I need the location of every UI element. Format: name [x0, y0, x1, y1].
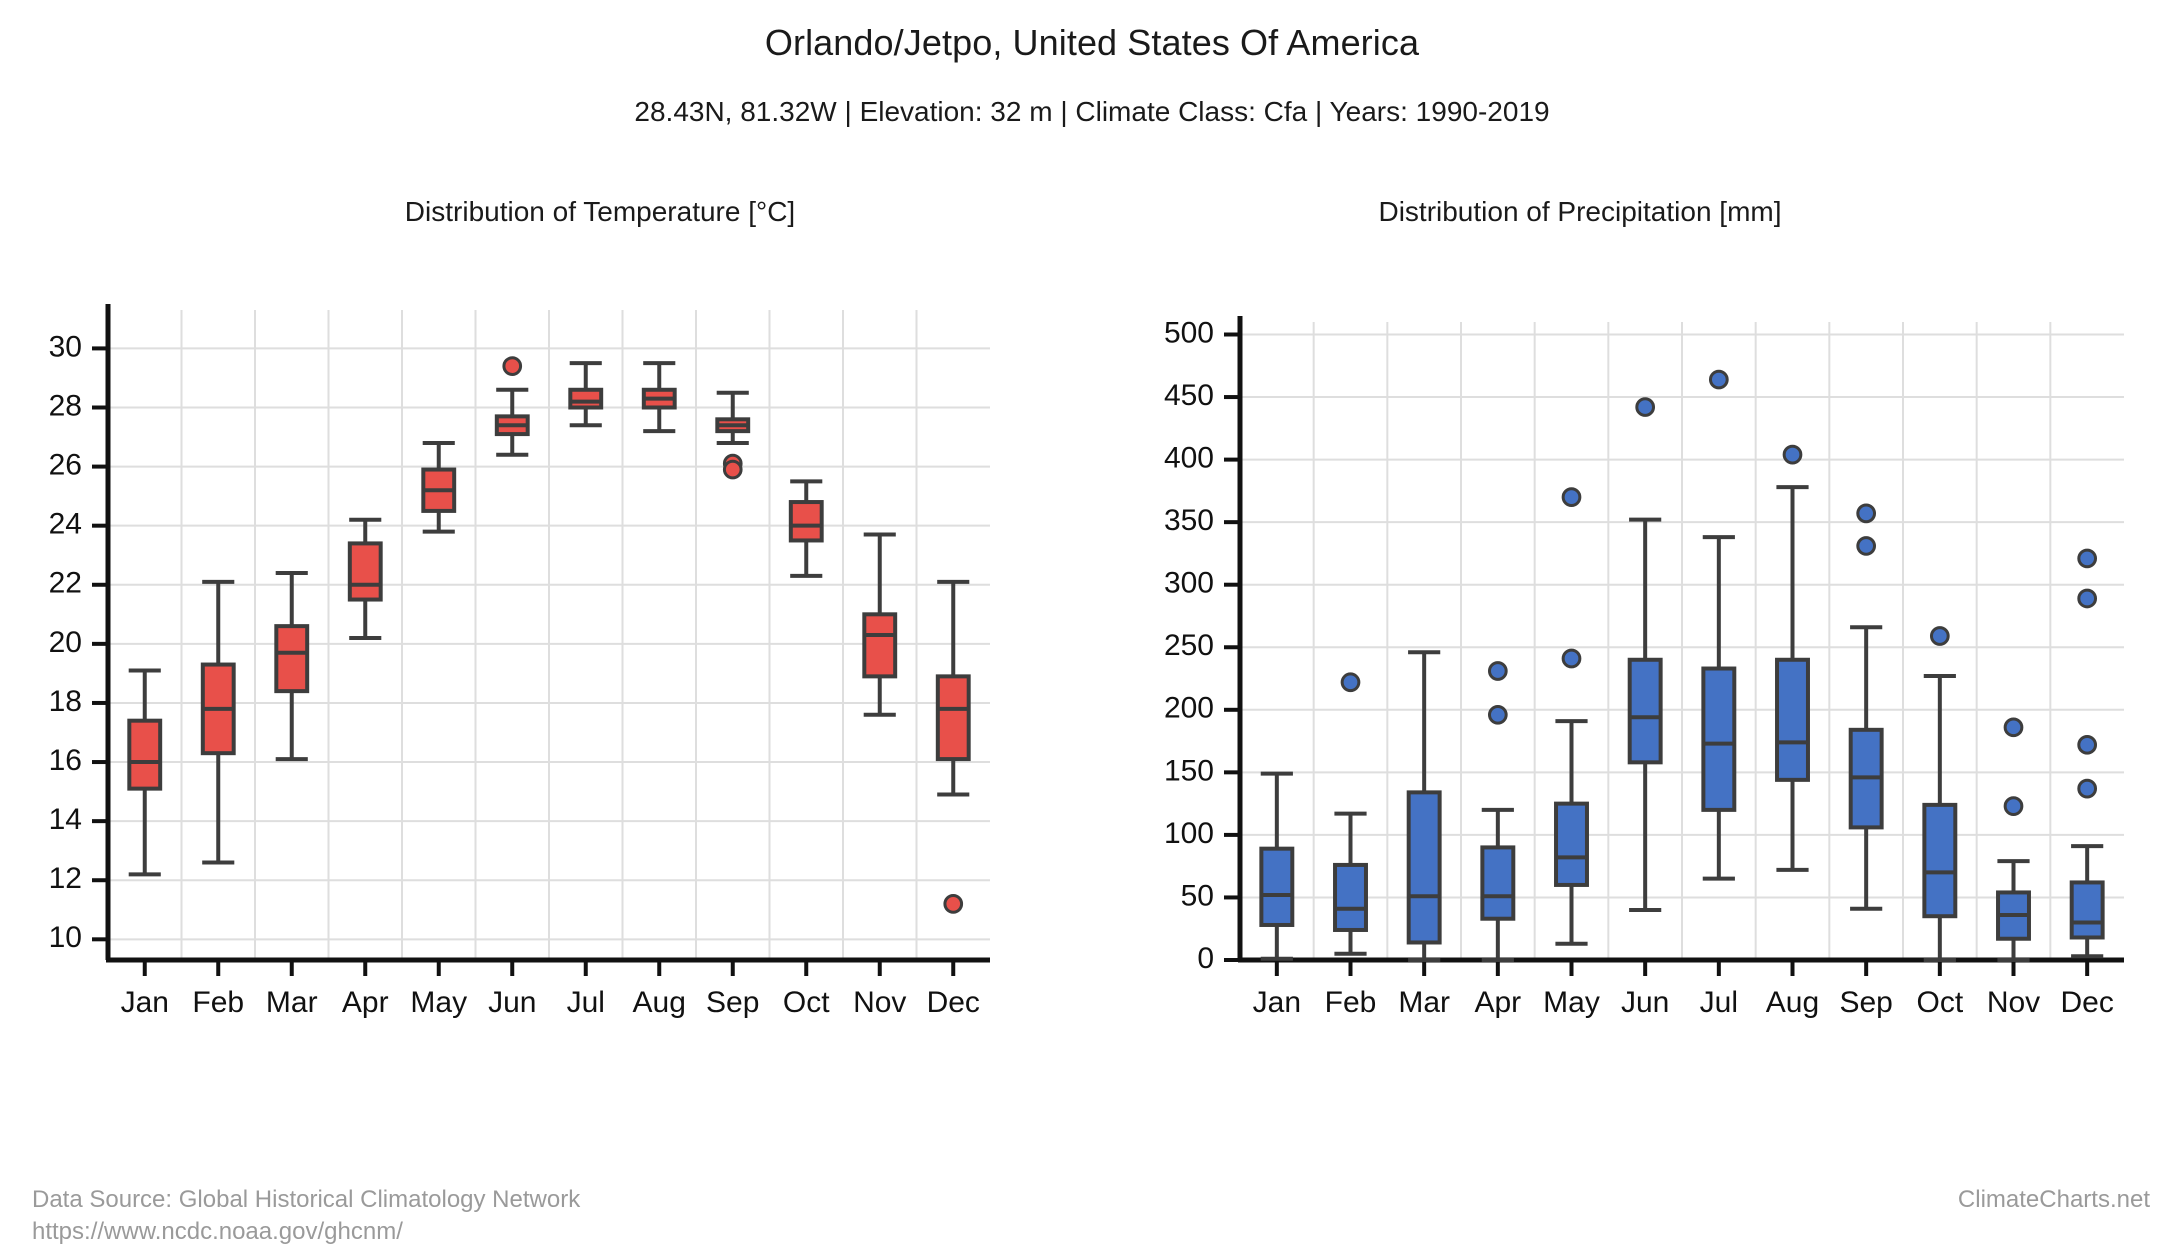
temperature-panel-title: Distribution of Temperature [°C] — [110, 196, 1090, 228]
precipitation-box-apr — [1482, 663, 1514, 960]
precipitation-box-may — [1555, 489, 1587, 944]
x-tick-label-sep: Sep — [706, 986, 759, 1019]
x-tick-label-jun: Jun — [488, 986, 536, 1019]
precipitation-y-tick-label: 350 — [1164, 504, 1214, 537]
x-tick-label-jan: Jan — [1253, 986, 1301, 1019]
precipitation-box-mar — [1408, 652, 1440, 960]
precipitation-y-axis-ticks: 050100150200250300350400450500 — [1164, 316, 1240, 974]
temperature-y-tick-label: 24 — [49, 508, 82, 541]
x-tick-label-jul: Jul — [1700, 986, 1738, 1019]
temperature-y-tick-label: 26 — [49, 449, 82, 482]
precipitation-plot-svg: 050100150200250300350400450500JanFebMarA… — [1092, 250, 2162, 1080]
precipitation-y-tick-label: 200 — [1164, 692, 1214, 725]
temperature-box-jul — [570, 363, 602, 425]
temperature-y-tick-label: 10 — [49, 921, 82, 954]
x-tick-label-feb: Feb — [192, 986, 244, 1019]
x-tick-label-apr: Apr — [1474, 986, 1521, 1019]
x-tick-label-aug: Aug — [633, 986, 686, 1019]
x-tick-label-oct: Oct — [1916, 986, 1963, 1019]
precipitation-box-nov — [1997, 719, 2029, 960]
precipitation-box-jun — [1629, 399, 1661, 910]
x-tick-label-dec: Dec — [927, 986, 980, 1019]
temperature-box-jan — [129, 670, 161, 874]
temperature-box-jun — [496, 358, 528, 455]
x-tick-label-aug: Aug — [1766, 986, 1819, 1019]
precipitation-x-axis-ticks: JanFebMarAprMayJunJulAugSepOctNovDec — [1253, 960, 2114, 1019]
precipitation-y-tick-label: 0 — [1197, 942, 1214, 975]
precipitation-y-tick-label: 450 — [1164, 379, 1214, 412]
temperature-box-aug — [643, 363, 675, 431]
temperature-y-tick-label: 20 — [49, 626, 82, 659]
temperature-y-tick-label: 18 — [49, 685, 82, 718]
temperature-y-tick-label: 28 — [49, 389, 82, 422]
x-tick-label-sep: Sep — [1839, 986, 1892, 1019]
data-source-line-1: Data Source: Global Historical Climatolo… — [32, 1184, 580, 1216]
x-tick-label-may: May — [1543, 986, 1600, 1019]
temperature-boxplot: 1012141618202224262830JanFebMarAprMayJun… — [0, 250, 1020, 1080]
data-source-note: Data Source: Global Historical Climatolo… — [32, 1184, 580, 1247]
page-title: Orlando/Jetpo, United States Of America — [0, 22, 2184, 64]
temperature-y-tick-label: 30 — [49, 330, 82, 363]
precipitation-panel-title: Distribution of Precipitation [mm] — [1090, 196, 2070, 228]
precipitation-box-jan — [1261, 774, 1293, 959]
precipitation-y-tick-label: 100 — [1164, 817, 1214, 850]
precipitation-y-tick-label: 250 — [1164, 629, 1214, 662]
x-tick-label-apr: Apr — [342, 986, 389, 1019]
precipitation-box-jul — [1703, 371, 1735, 878]
temperature-box-dec — [937, 582, 969, 912]
x-tick-label-mar: Mar — [1398, 986, 1450, 1019]
precipitation-y-tick-label: 400 — [1164, 442, 1214, 475]
precipitation-boxplot: 050100150200250300350400450500JanFebMarA… — [1092, 250, 2162, 1080]
temperature-y-tick-label: 16 — [49, 744, 82, 777]
x-tick-label-nov: Nov — [1987, 986, 2040, 1019]
temperature-box-nov — [864, 535, 896, 715]
precipitation-box-sep — [1850, 505, 1882, 909]
precipitation-y-tick-label: 300 — [1164, 567, 1214, 600]
precipitation-y-tick-label: 50 — [1181, 879, 1214, 912]
temperature-y-tick-label: 22 — [49, 567, 82, 600]
temperature-box-mar — [276, 573, 308, 759]
x-tick-label-jul: Jul — [567, 986, 605, 1019]
precipitation-y-tick-label: 500 — [1164, 316, 1214, 349]
temperature-x-axis-ticks: JanFebMarAprMayJunJulAugSepOctNovDec — [121, 960, 980, 1019]
x-tick-label-feb: Feb — [1325, 986, 1377, 1019]
temperature-y-axis-ticks: 1012141618202224262830 — [49, 330, 108, 954]
precipitation-box-aug — [1776, 446, 1808, 870]
temperature-plot-svg: 1012141618202224262830JanFebMarAprMayJun… — [0, 250, 1020, 1080]
data-source-url[interactable]: https://www.ncdc.noaa.gov/ghcnm/ — [32, 1216, 580, 1248]
temperature-box-sep — [717, 393, 749, 478]
page-subtitle: 28.43N, 81.32W | Elevation: 32 m | Clima… — [0, 96, 2184, 128]
x-tick-label-jan: Jan — [121, 986, 169, 1019]
precipitation-y-tick-label: 150 — [1164, 754, 1214, 787]
temperature-box-may — [423, 443, 455, 532]
x-tick-label-oct: Oct — [783, 986, 830, 1019]
x-tick-label-may: May — [410, 986, 467, 1019]
precipitation-box-oct — [1924, 628, 1956, 960]
temperature-y-tick-label: 14 — [49, 803, 82, 836]
x-tick-label-dec: Dec — [2060, 986, 2113, 1019]
temperature-box-oct — [790, 481, 822, 576]
x-tick-label-jun: Jun — [1621, 986, 1669, 1019]
precipitation-gridlines — [1240, 322, 2124, 960]
temperature-y-tick-label: 12 — [49, 862, 82, 895]
x-tick-label-mar: Mar — [266, 986, 318, 1019]
brand-label: ClimateCharts.net — [1958, 1186, 2150, 1214]
climate-chart-page: Orlando/Jetpo, United States Of America … — [0, 0, 2184, 1260]
precipitation-box-feb — [1334, 674, 1366, 954]
x-tick-label-nov: Nov — [853, 986, 906, 1019]
temperature-gridlines — [108, 310, 990, 960]
precipitation-box-dec — [2071, 550, 2103, 956]
temperature-box-apr — [349, 520, 381, 638]
